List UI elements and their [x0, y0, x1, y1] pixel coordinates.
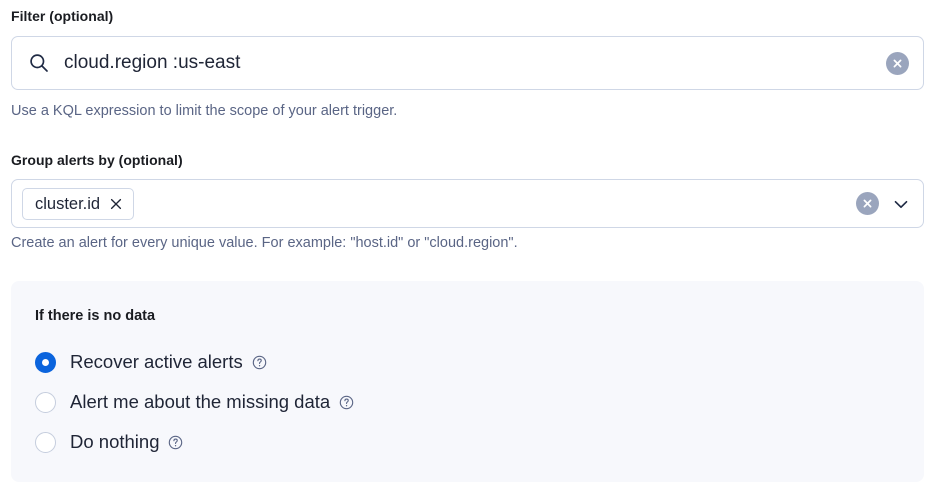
radio-button-icon[interactable] — [35, 432, 56, 453]
radio-button-icon[interactable] — [35, 392, 56, 413]
group-help-text: Create an alert for every unique value. … — [11, 233, 518, 253]
combobox-actions — [856, 192, 911, 215]
no-data-panel-title: If there is no data — [35, 307, 924, 325]
no-data-panel: If there is no data Recover active alert… — [11, 281, 924, 482]
filter-input-wrapper[interactable] — [11, 36, 924, 90]
filter-field-group: Filter (optional) — [11, 7, 113, 25]
radio-option-recover-active-alerts[interactable]: Recover active alerts — [35, 342, 924, 382]
selected-fields-list: cluster.id — [22, 188, 856, 220]
radio-option-label[interactable]: Alert me about the missing data — [70, 390, 330, 414]
radio-button-icon[interactable] — [35, 352, 56, 373]
group-help-wrapper: Create an alert for every unique value. … — [11, 233, 518, 253]
filter-field-label: Filter (optional) — [11, 7, 113, 25]
radio-option-label[interactable]: Recover active alerts — [70, 350, 243, 374]
question-circle-icon[interactable] — [339, 395, 354, 410]
selected-field-pill[interactable]: cluster.id — [22, 188, 134, 220]
radio-dot — [42, 359, 49, 366]
filter-help-wrapper: Use a KQL expression to limit the scope … — [11, 101, 397, 121]
close-icon[interactable] — [109, 197, 123, 211]
radio-option-alert-missing-data[interactable]: Alert me about the missing data — [35, 382, 924, 422]
question-circle-icon[interactable] — [168, 435, 183, 450]
filter-help-text: Use a KQL expression to limit the scope … — [11, 101, 397, 121]
filter-input-value[interactable] — [64, 51, 886, 75]
alert-rule-form: Filter (optional) Use a KQL expression t… — [0, 0, 932, 501]
filter-clear-button[interactable] — [886, 52, 909, 75]
group-combobox-wrapper[interactable]: cluster.id — [11, 179, 924, 228]
radio-option-do-nothing[interactable]: Do nothing — [35, 422, 924, 462]
group-field-group: Group alerts by (optional) — [11, 151, 183, 169]
kql-filter-input[interactable] — [11, 36, 924, 90]
radio-option-label[interactable]: Do nothing — [70, 430, 159, 454]
pill-label: cluster.id — [35, 194, 100, 214]
group-alerts-combobox[interactable]: cluster.id — [11, 179, 924, 228]
group-clear-button[interactable] — [856, 192, 879, 215]
search-icon — [28, 52, 50, 74]
group-field-label: Group alerts by (optional) — [11, 151, 183, 169]
question-circle-icon[interactable] — [252, 355, 267, 370]
chevron-down-icon[interactable] — [891, 194, 911, 214]
